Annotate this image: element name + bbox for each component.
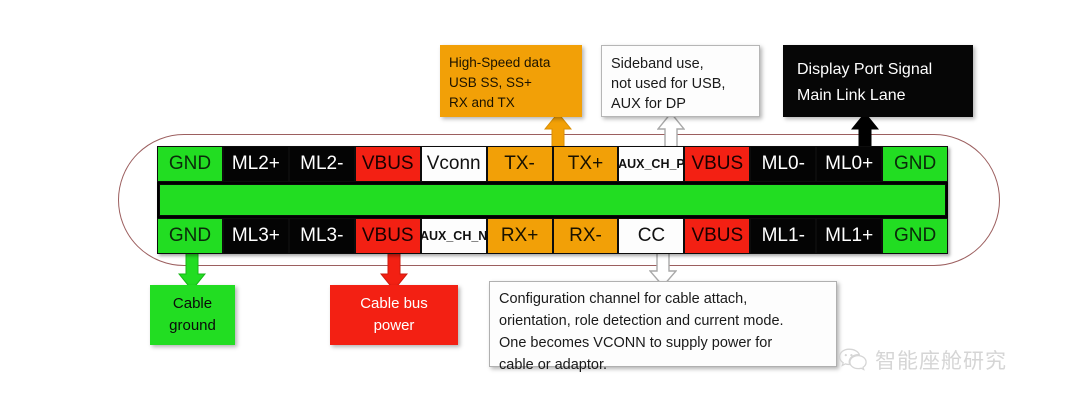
callout-displayport-line2: Main Link Lane [797,83,973,109]
pin-aux-ch-p[interactable]: AUX_CH_P [618,146,684,182]
callout-sideband-line2: not used for USB, [611,74,759,94]
pin-gnd-top-left[interactable]: GND [157,146,223,182]
pin-ml3-plus[interactable]: ML3+ [223,218,289,254]
usb-c-pinout-diagram: GND ML2+ ML2- VBUS Vconn TX- TX+ AUX_CH_… [0,0,1080,402]
callout-cable-ground-line1: Cable [173,293,212,315]
pin-ml1-minus[interactable]: ML1- [750,218,816,254]
pin-ml0-minus[interactable]: ML0- [750,146,816,182]
pin-rx-plus[interactable]: RX+ [487,218,553,254]
watermark-text: 智能座舱研究 [875,345,1007,375]
callout-high-speed-data: High-Speed data USB SS, SS+ RX and TX [440,45,582,117]
callout-sideband-use: Sideband use, not used for USB, AUX for … [601,45,760,117]
ground-shield-band [159,184,946,216]
callout-cable-power-line2: power [374,315,415,337]
callout-displayport-line1: Display Port Signal [797,57,973,83]
callout-sideband-line3: AUX for DP [611,94,759,114]
callout-highspeed-line3: RX and TX [449,93,582,113]
callout-highspeed-line1: High-Speed data [449,53,582,73]
pin-vbus-bottom-left[interactable]: VBUS [355,218,421,254]
callout-display-port-signal: Display Port Signal Main Link Lane [783,45,973,117]
wechat-icon [838,347,868,373]
pin-row-top: GND ML2+ ML2- VBUS Vconn TX- TX+ AUX_CH_… [157,146,948,182]
callout-config-line1: Configuration channel for cable attach, [499,288,836,310]
pin-ml2-plus[interactable]: ML2+ [223,146,289,182]
pin-assembly: GND ML2+ ML2- VBUS Vconn TX- TX+ AUX_CH_… [157,146,948,254]
callout-cable-ground: Cable ground [150,285,235,345]
pin-ml0-plus[interactable]: ML0+ [816,146,882,182]
pin-vbus-top-right[interactable]: VBUS [684,146,750,182]
pin-cc[interactable]: CC [618,218,684,254]
pin-ml1-plus[interactable]: ML1+ [816,218,882,254]
callout-config-line3: One becomes VCONN to supply power for [499,332,836,354]
callout-highspeed-line2: USB SS, SS+ [449,73,582,93]
callout-cable-bus-power: Cable bus power [330,285,458,345]
pin-gnd-bottom-right[interactable]: GND [882,218,948,254]
callout-config-line4: cable or adaptor. [499,354,836,376]
pin-ml3-minus[interactable]: ML3- [289,218,355,254]
pin-tx-plus[interactable]: TX+ [553,146,619,182]
pin-row-bottom: GND ML3+ ML3- VBUS AUX_CH_N RX+ RX- CC V… [157,218,948,254]
callout-config-line2: orientation, role detection and current … [499,310,836,332]
pin-vbus-top-left[interactable]: VBUS [355,146,421,182]
pin-gnd-bottom-left[interactable]: GND [157,218,223,254]
arrow-down-cable-power [380,250,408,290]
arrow-down-cable-ground [178,250,206,290]
pin-gnd-top-right[interactable]: GND [882,146,948,182]
pin-ml2-minus[interactable]: ML2- [289,146,355,182]
callout-cable-ground-line2: ground [169,315,216,337]
pin-vconn[interactable]: Vconn [421,146,487,182]
pin-aux-ch-n[interactable]: AUX_CH_N [421,218,487,254]
watermark: 智能座舱研究 [838,343,1068,377]
pin-tx-minus[interactable]: TX- [487,146,553,182]
pin-vbus-bottom-right[interactable]: VBUS [684,218,750,254]
pin-rx-minus[interactable]: RX- [553,218,619,254]
callout-sideband-line1: Sideband use, [611,54,759,74]
callout-configuration-channel: Configuration channel for cable attach, … [489,281,837,367]
callout-cable-power-line1: Cable bus [360,293,428,315]
